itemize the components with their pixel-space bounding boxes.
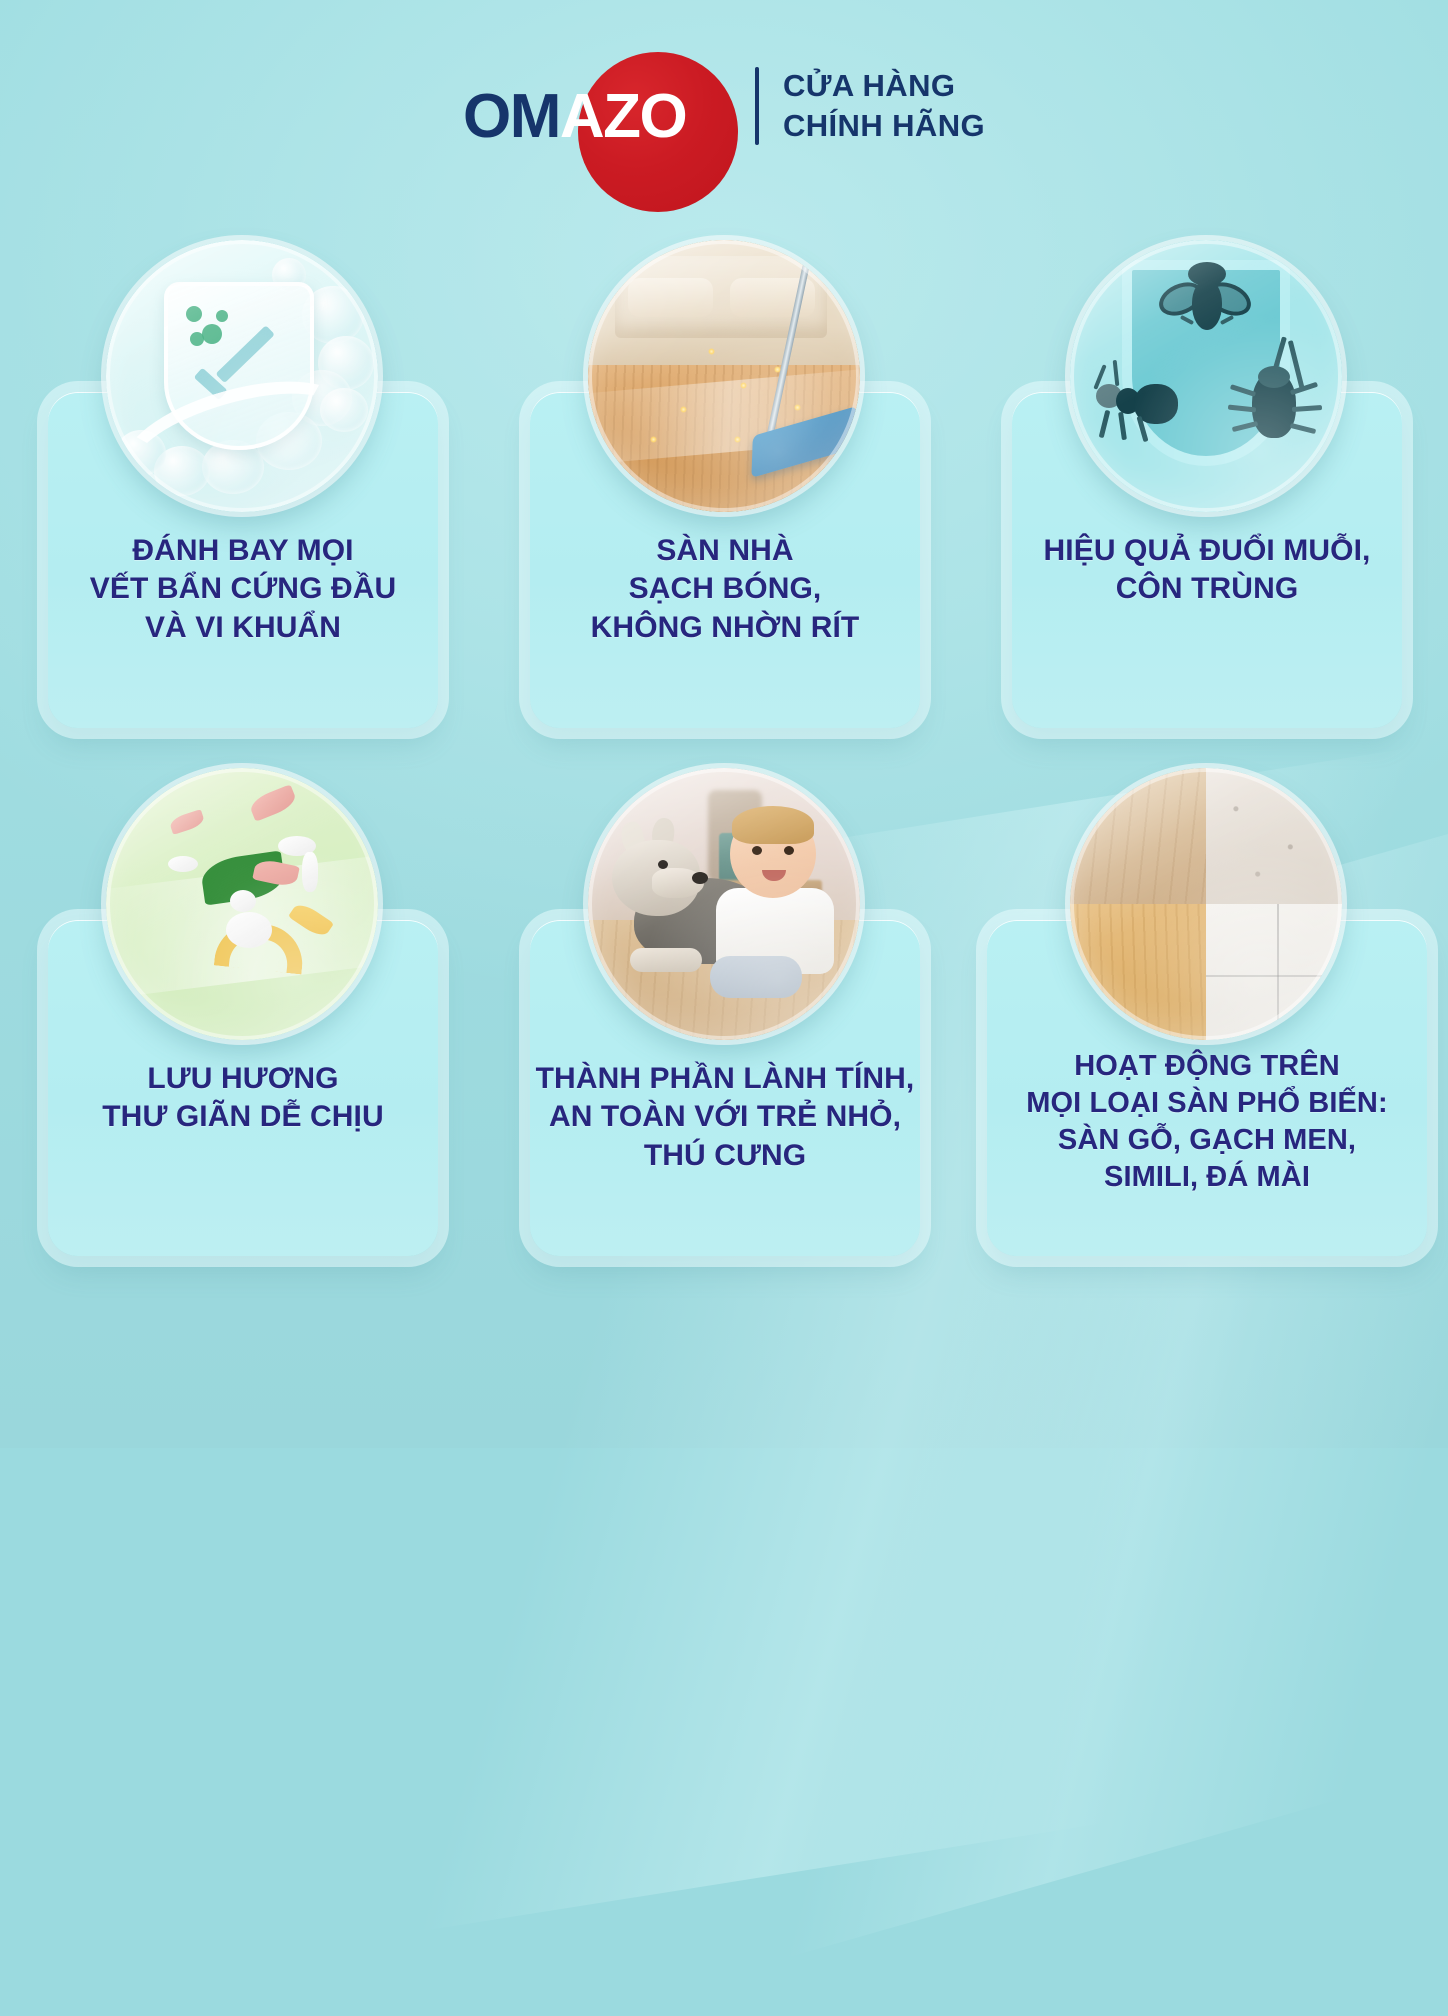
omazo-wordmark: OMAZO [463,86,686,148]
brand-tagline: CỬA HÀNG CHÍNH HÃNG [783,66,985,145]
feature-caption: HOẠT ĐỘNG TRÊN MỌI LOẠI SÀN PHỔ BIẾN: SÀ… [987,1048,1427,1196]
omazo-wordmark-light: AZO [560,82,686,151]
feature-cell-shiny-floor[interactable]: SÀN NHÀ SẠCH BÓNG, KHÔNG NHỜN RÍT [483,232,965,740]
feature-caption: ĐÁNH BAY MỌI VẾT BẨN CỨNG ĐẦU VÀ VI KHUẨ… [48,532,438,647]
feature-caption: THÀNH PHẦN LÀNH TÍNH, AN TOÀN VỚI TRẺ NH… [530,1060,920,1175]
brand-tagline-line1: CỬA HÀNG [783,66,985,106]
feature-cell-relaxing-scent[interactable]: LƯU HƯƠNG THƯ GIÃN DỄ CHỊU [1,760,483,1268]
omazo-logo-mark: OMAZO [463,36,749,176]
mop-wood-floor-icon [588,240,860,512]
feature-cell-repel-insects[interactable]: HIỆU QUẢ ĐUỔI MUỖI, CÔN TRÙNG [965,232,1447,740]
logo-divider [755,67,759,145]
feature-caption: SÀN NHÀ SẠCH BÓNG, KHÔNG NHỜN RÍT [530,532,920,647]
dog-baby-icon [588,768,860,1040]
shield-bubbles-icon [106,240,378,512]
feature-caption: LƯU HƯƠNG THƯ GIÃN DỄ CHỊU [48,1060,438,1137]
insect-shield-icon [1070,240,1342,512]
floor-samples-quad-icon [1070,768,1342,1040]
brand-header: OMAZO CỬA HÀNG CHÍNH HÃNG [0,36,1448,176]
feature-cell-stain-bacteria[interactable]: ĐÁNH BAY MỌI VẾT BẨN CỨNG ĐẦU VÀ VI KHUẨ… [1,232,483,740]
petri-botanical-icon [106,768,378,1040]
brand-tagline-line2: CHÍNH HÃNG [783,106,985,146]
feature-cell-safe-ingredients[interactable]: THÀNH PHẦN LÀNH TÍNH, AN TOÀN VỚI TRẺ NH… [483,760,965,1268]
feature-caption: HIỆU QUẢ ĐUỔI MUỖI, CÔN TRÙNG [1012,532,1402,609]
feature-cell-all-floor-types[interactable]: HOẠT ĐỘNG TRÊN MỌI LOẠI SÀN PHỔ BIẾN: SÀ… [965,760,1447,1268]
feature-grid: ĐÁNH BAY MỌI VẾT BẨN CỨNG ĐẦU VÀ VI KHUẨ… [0,232,1448,1268]
brand-logo-lockup[interactable]: OMAZO CỬA HÀNG CHÍNH HÃNG [463,36,985,176]
omazo-wordmark-dark: OM [463,82,560,151]
